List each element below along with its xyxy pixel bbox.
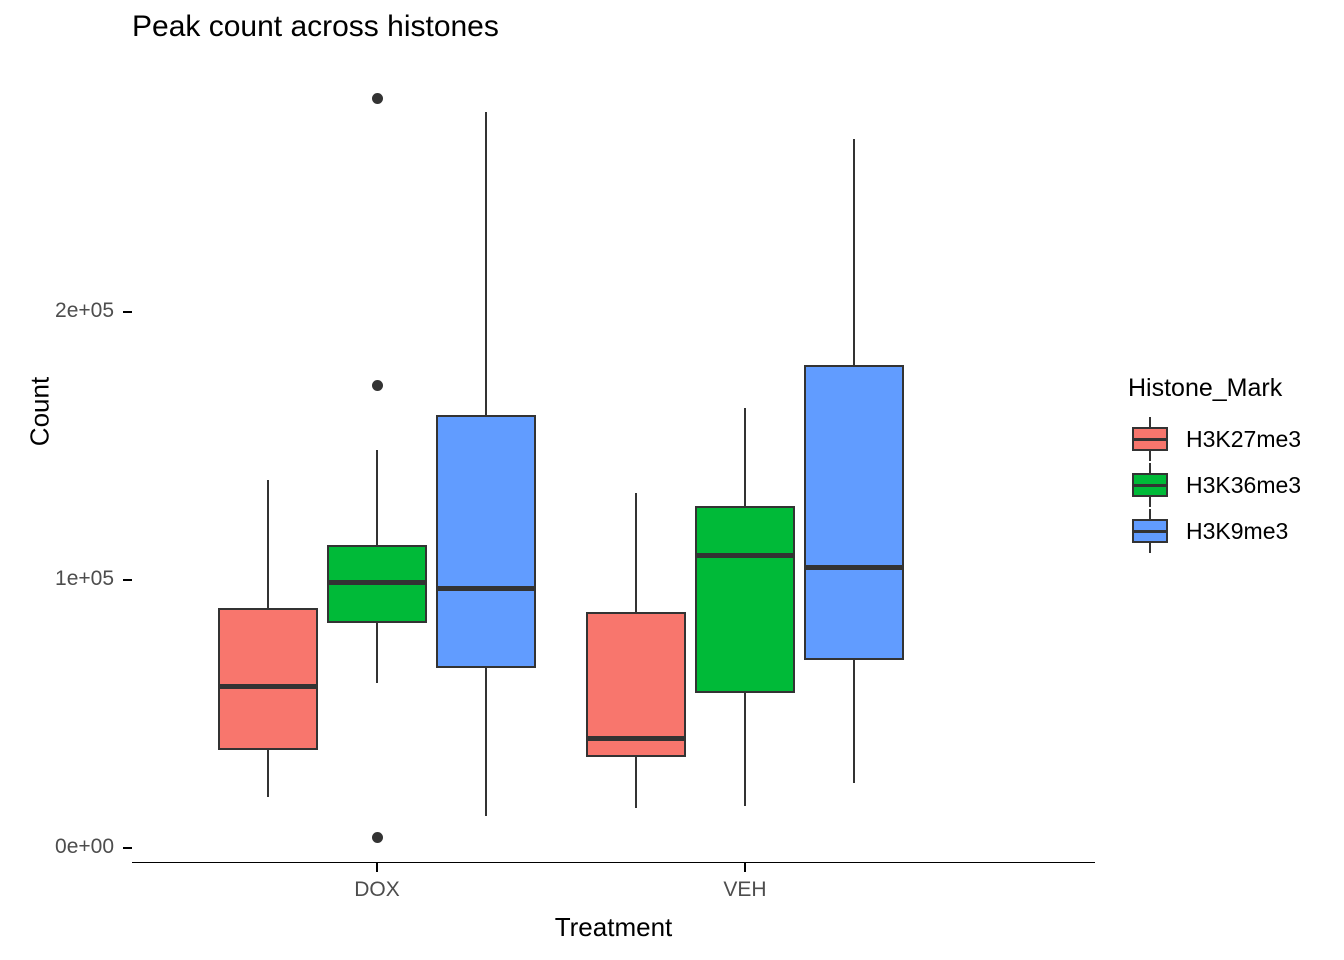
median-line (804, 565, 904, 570)
legend-key-icon (1128, 417, 1172, 461)
plot-panel (132, 62, 1095, 862)
y-tick-mark (123, 311, 132, 313)
legend-key-icon (1128, 509, 1172, 553)
legend: Histone_Mark H3K27me3H3K36me3H3K9me3 (1128, 374, 1328, 555)
chart-root: Peak count across histones Count Treatme… (0, 0, 1344, 960)
x-tick-label: DOX (297, 878, 457, 902)
x-tick-label: VEH (665, 878, 825, 902)
legend-key-icon (1128, 463, 1172, 507)
y-tick-label: 0e+00 (0, 835, 114, 859)
whisker-lower (853, 660, 856, 783)
legend-item-h3k27me3[interactable]: H3K27me3 (1128, 417, 1328, 461)
legend-items: H3K27me3H3K36me3H3K9me3 (1128, 417, 1328, 553)
y-tick-mark (123, 847, 132, 849)
legend-key-median (1132, 530, 1168, 533)
legend-item-h3k36me3[interactable]: H3K36me3 (1128, 463, 1328, 507)
legend-item-label: H3K27me3 (1186, 426, 1301, 453)
legend-key-median (1132, 438, 1168, 441)
legend-item-h3k9me3[interactable]: H3K9me3 (1128, 509, 1328, 553)
legend-title: Histone_Mark (1128, 374, 1328, 403)
x-axis-title: Treatment (132, 912, 1095, 943)
legend-key-median (1132, 484, 1168, 487)
y-tick-label: 2e+05 (0, 299, 114, 323)
page-title: Peak count across histones (132, 10, 499, 43)
box (804, 365, 904, 660)
x-tick-mark (376, 863, 378, 872)
boxplot-veh-h3k9me3 (132, 62, 1095, 862)
y-tick-label: 1e+05 (0, 567, 114, 591)
whisker-upper (853, 139, 856, 365)
y-tick-mark (123, 579, 132, 581)
y-axis-title: Count (25, 312, 56, 512)
x-tick-mark (744, 863, 746, 872)
legend-item-label: H3K9me3 (1186, 518, 1288, 545)
legend-item-label: H3K36me3 (1186, 472, 1301, 499)
